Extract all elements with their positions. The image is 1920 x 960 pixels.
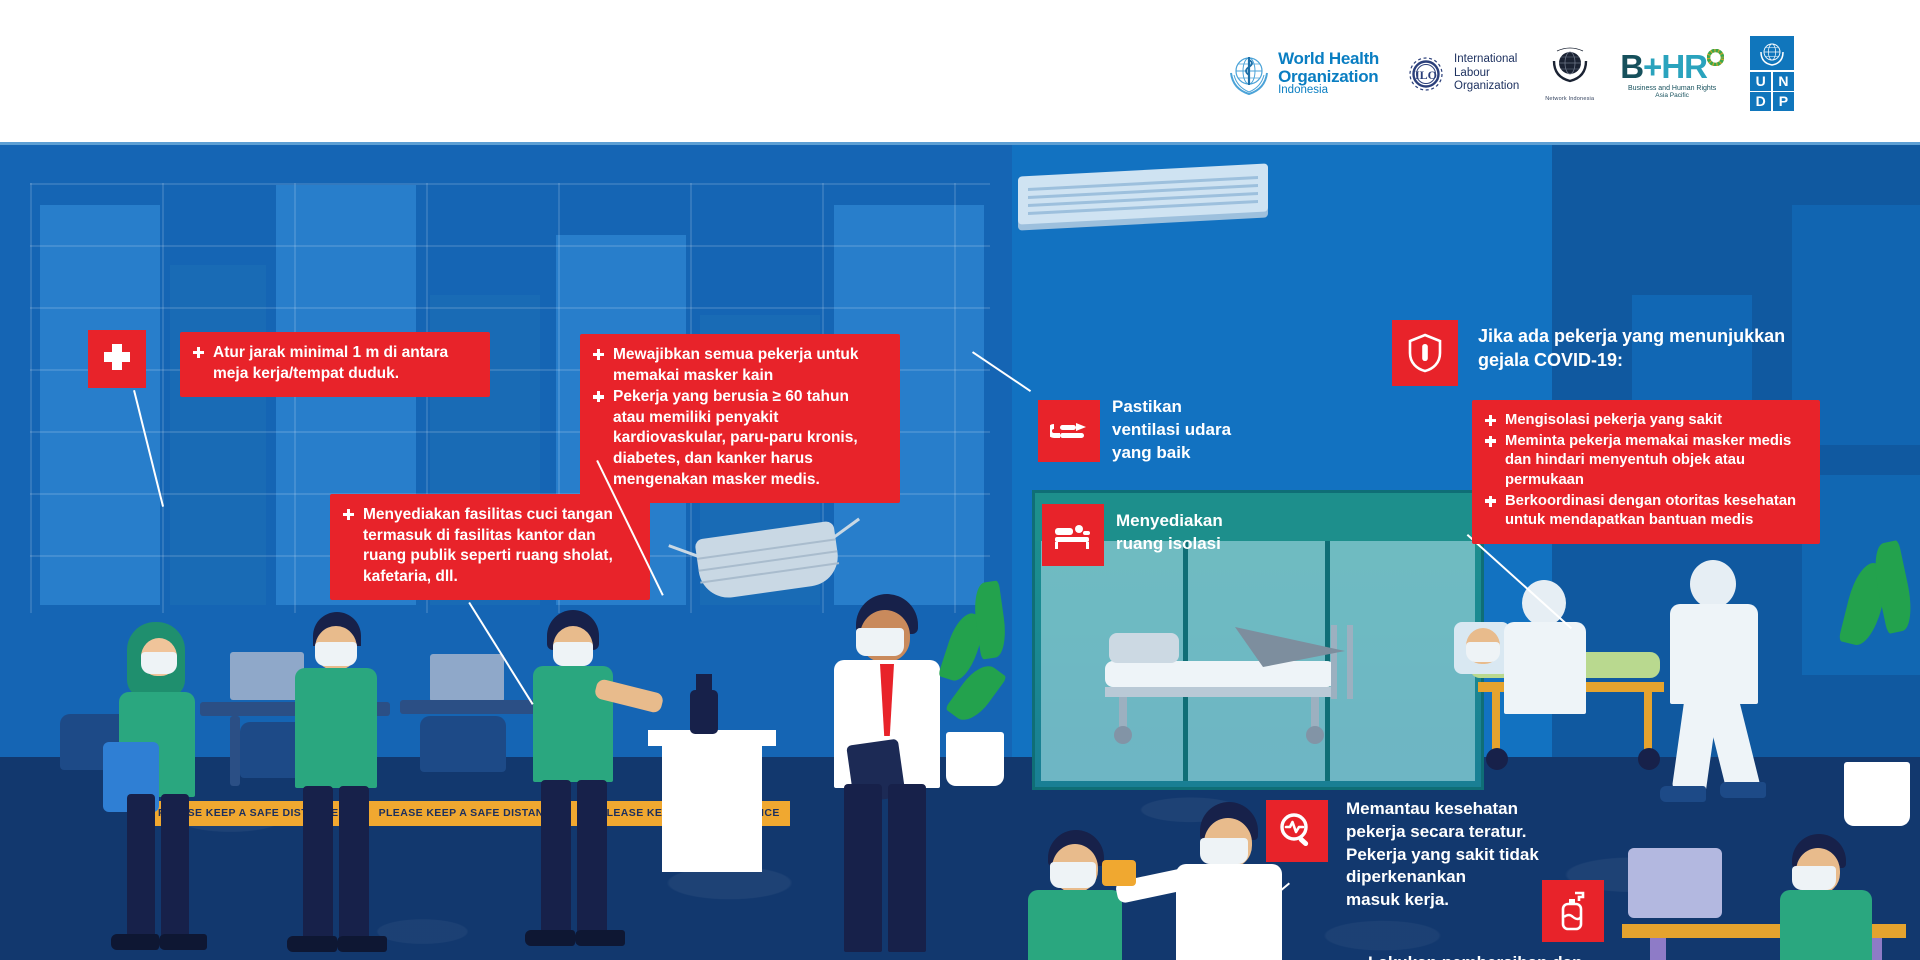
callout-symptoms-heading: Jika ada pekerja yang menunjukkan gejala… xyxy=(1478,324,1898,372)
shield-icon xyxy=(1408,333,1442,373)
leg xyxy=(339,786,369,944)
leg xyxy=(303,786,333,944)
bhr-sub1: Business and Human Rights xyxy=(1620,85,1724,92)
ventilation-line-2: ventilasi udara xyxy=(1112,419,1342,442)
stretcher-leg xyxy=(1644,692,1652,750)
shield-icon-tile xyxy=(1392,320,1458,386)
sanitizer-pump xyxy=(696,674,712,694)
face-mask xyxy=(315,642,357,666)
partner-logo-strip: World Health Organization Indonesia ILO xyxy=(1227,36,1794,111)
leg xyxy=(161,794,189,944)
callout-isolation-room-text: Menyediakan ruang isolasi xyxy=(1116,510,1326,556)
worker-figure-hijab xyxy=(105,622,215,952)
bhr-sub2: Asia Pacific xyxy=(1620,92,1724,99)
who-line1: World Health xyxy=(1278,50,1379,68)
worker-figure-sanitizing xyxy=(525,610,645,950)
who-wordmark: World Health Organization Indonesia xyxy=(1278,50,1379,97)
soap-dispenser-icon-tile xyxy=(1542,880,1604,942)
callout-symptoms-actions: Mengisolasi pekerja yang sakit Meminta p… xyxy=(1472,400,1820,544)
ppe-boot xyxy=(1720,782,1766,798)
leg xyxy=(127,794,155,944)
callout-item: Berkoordinasi dengan otoritas kesehatan … xyxy=(1485,492,1805,531)
sdg-wheel-icon xyxy=(1707,49,1724,66)
ppe-leg xyxy=(1705,697,1760,794)
undp-letter-u: U xyxy=(1750,72,1771,91)
ilo-logo: ILO International Labour Organization xyxy=(1405,53,1519,95)
worker-figure-batik-1 xyxy=(283,612,393,952)
ppe-boot xyxy=(1660,786,1706,802)
ilo-line3: Organization xyxy=(1454,80,1519,94)
cross-bullet-icon xyxy=(343,509,354,520)
soap-dispenser-icon xyxy=(1557,891,1589,931)
desk-monitor xyxy=(430,654,504,702)
un-global-compact-caption: Network Indonesia xyxy=(1545,96,1594,102)
callout-masks: Mewajibkan semua pekerja untuk memakai m… xyxy=(580,334,900,503)
health-monitor-search-icon xyxy=(1278,812,1316,850)
callout-item: Meminta pekerja memakai masker medis dan… xyxy=(1485,432,1805,491)
hospital-bed-icon xyxy=(1053,520,1093,550)
shoe xyxy=(159,934,207,950)
bhr-plus: + xyxy=(1643,48,1661,85)
torso xyxy=(1780,890,1872,960)
ppe-suit xyxy=(1670,604,1758,704)
cross-bullet-icon xyxy=(593,391,604,402)
undp-letters: U N D P xyxy=(1750,72,1794,112)
ventilation-line-1: Pastikan xyxy=(1112,396,1342,419)
callout-item: Menyediakan fasilitas cuci tangan termas… xyxy=(343,505,635,587)
thermometer-gun xyxy=(1102,860,1136,886)
undp-letter-d: D xyxy=(1750,92,1771,111)
ppe-hood xyxy=(1690,560,1736,608)
hospital-bed-icon-tile xyxy=(1042,504,1104,566)
shoe xyxy=(337,936,387,952)
torso-batik-shirt xyxy=(295,668,377,788)
bhr-b: B xyxy=(1620,48,1643,85)
callout-item: Mengisolasi pekerja yang sakit xyxy=(1485,411,1805,431)
who-logo: World Health Organization Indonesia xyxy=(1227,50,1379,97)
leg xyxy=(541,780,571,938)
ilo-line1: International xyxy=(1454,53,1519,67)
bhr-wordmark: B+HR xyxy=(1620,49,1724,83)
sanitizer-podium xyxy=(662,742,762,872)
cross-bullet-icon xyxy=(193,347,204,358)
who-emblem-icon xyxy=(1227,51,1271,97)
symptoms-heading-line-1: Jika ada pekerja yang menunjukkan xyxy=(1478,324,1898,348)
svg-text:ILO: ILO xyxy=(1415,68,1437,82)
callout-handwashing: Menyediakan fasilitas cuci tangan termas… xyxy=(330,494,650,600)
callout-item: Mewajibkan semua pekerja untuk memakai m… xyxy=(593,345,885,386)
air-flow-icon-tile xyxy=(1038,400,1100,462)
callout-ventilation-text: Pastikan ventilasi udara yang baik xyxy=(1112,396,1342,464)
globe-wreath-icon xyxy=(1549,45,1591,87)
ventilation-line-3: yang baik xyxy=(1112,442,1342,465)
symptoms-heading-line-2: gejala COVID-19: xyxy=(1478,348,1898,372)
callout-item: Atur jarak minimal 1 m di antara meja ke… xyxy=(193,343,475,384)
shoe xyxy=(575,930,625,946)
face-mask xyxy=(856,628,904,656)
office-chair xyxy=(420,716,506,772)
leg xyxy=(888,784,926,952)
callout-disinfection-text: Lakukan pembersihan dan disinfeksi secar… xyxy=(1368,952,1668,960)
sanitizer-bottle xyxy=(690,690,718,734)
who-country: Indonesia xyxy=(1278,85,1379,97)
ilo-emblem-icon: ILO xyxy=(1405,53,1447,95)
undp-letter-p: P xyxy=(1773,92,1794,111)
ppe-suit xyxy=(1504,622,1586,714)
bhr-logo: B+HR Business and Human Rights Asia Paci… xyxy=(1620,49,1724,99)
medical-cross-icon-tile xyxy=(88,330,146,388)
monitoring-line-2: pekerja secara teratur. xyxy=(1346,821,1596,844)
callout-distance: Atur jarak minimal 1 m di antara meja ke… xyxy=(180,332,490,397)
un-emblem-icon xyxy=(1750,36,1794,70)
callout-item: Pekerja yang berusia ≥ 60 tahun atau mem… xyxy=(593,387,885,490)
health-monitor-search-icon-tile xyxy=(1266,800,1328,862)
who-line2: Organization xyxy=(1278,68,1379,86)
leg xyxy=(844,784,882,952)
shoe xyxy=(287,936,337,952)
face-mask xyxy=(553,642,593,666)
shoe xyxy=(525,930,575,946)
isolation-line-2: ruang isolasi xyxy=(1116,533,1326,556)
air-flow-icon xyxy=(1050,416,1088,446)
medical-cross-icon xyxy=(100,342,134,376)
ppe-worker-1 xyxy=(1490,580,1600,770)
desk-monitor xyxy=(1628,848,1722,918)
isolation-line-1: Menyediakan xyxy=(1116,510,1326,533)
illustration-scene: PLEASE KEEP A SAFE DISTANCEPLEASE KEEP A… xyxy=(0,142,1920,960)
cross-bullet-icon xyxy=(1485,496,1496,507)
undp-logo: U N D P xyxy=(1750,36,1794,111)
monitoring-line-1: Memantau kesehatan xyxy=(1346,798,1596,821)
cross-bullet-icon xyxy=(1485,415,1496,426)
ppe-worker-2 xyxy=(1656,560,1786,790)
monitoring-line-3: Pekerja yang sakit tidak xyxy=(1346,844,1596,867)
face-mask xyxy=(1792,866,1836,890)
face-mask xyxy=(1050,862,1096,888)
undp-letter-n: N xyxy=(1773,72,1794,91)
cross-bullet-icon xyxy=(593,349,604,360)
bhr-hr: HR xyxy=(1661,48,1707,85)
cross-bullet-icon xyxy=(1485,436,1496,447)
infographic-poster: World Health Organization Indonesia ILO xyxy=(0,0,1920,960)
disinfection-line-1: Lakukan pembersihan dan xyxy=(1368,952,1668,960)
manager-figure xyxy=(822,594,962,960)
un-global-compact-logo: Network Indonesia xyxy=(1545,45,1594,102)
hospital-bed-illustration xyxy=(1095,617,1375,747)
ilo-line2: Labour xyxy=(1454,67,1519,81)
cleaner-figure xyxy=(1770,834,1890,960)
header-bar: World Health Organization Indonesia ILO xyxy=(0,0,1920,142)
face-mask xyxy=(141,652,177,674)
shoe xyxy=(111,934,159,950)
desk-leg xyxy=(230,716,240,786)
leg xyxy=(577,780,607,938)
ilo-wordmark: International Labour Organization xyxy=(1454,53,1519,94)
face-mask xyxy=(1200,838,1248,864)
torso-batik-shirt xyxy=(1028,890,1122,960)
